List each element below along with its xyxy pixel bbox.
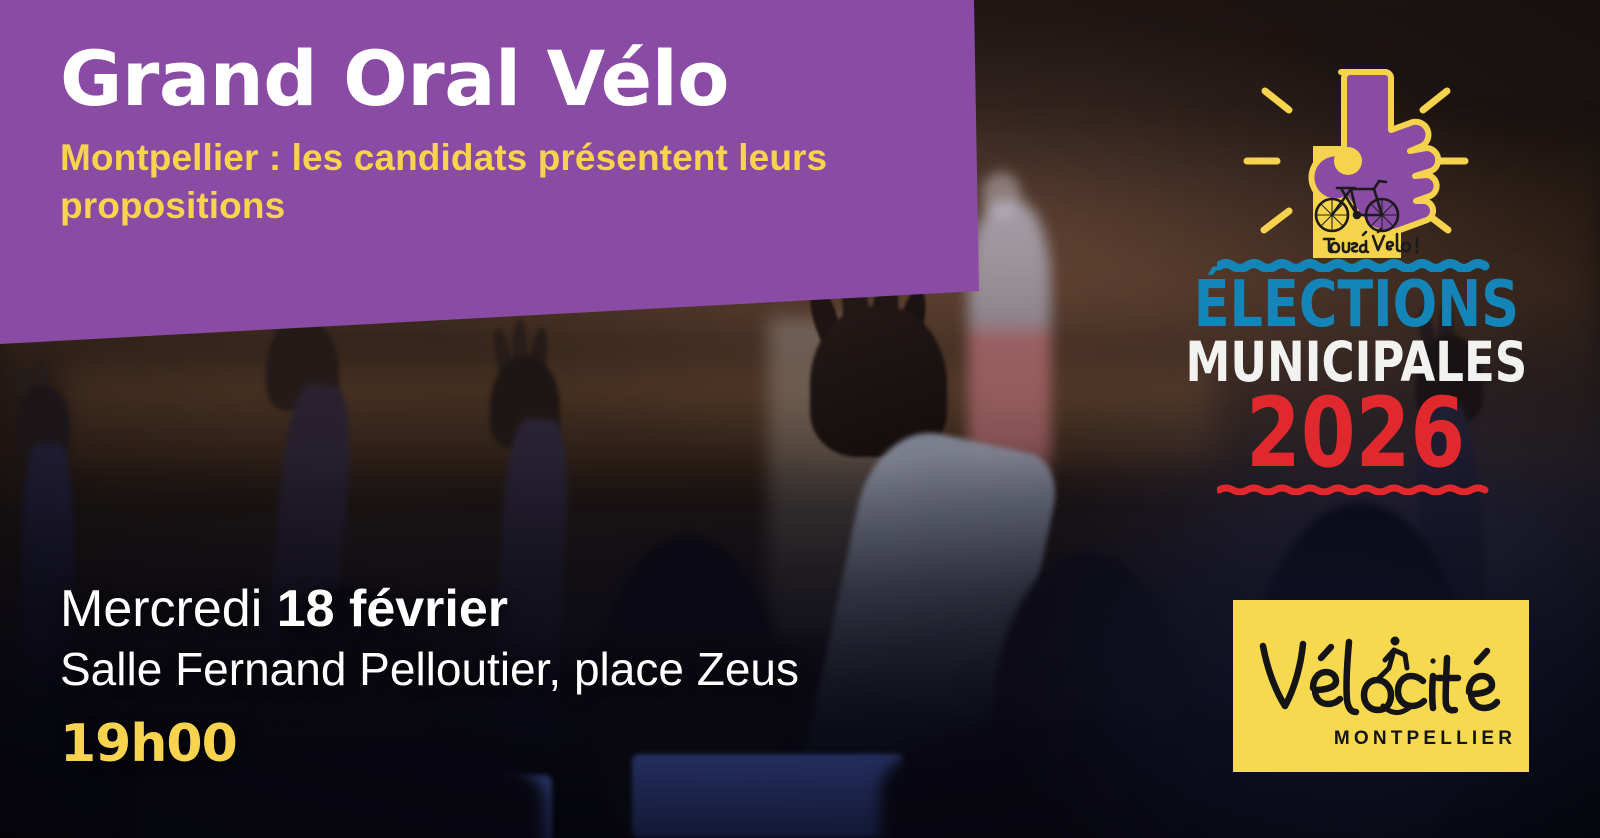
event-time: 19h00 (60, 718, 799, 770)
velocite-city-label: MONTPELLIER (1334, 728, 1516, 750)
event-venue: Salle Fernand Pelloutier, place Zeus (60, 644, 799, 696)
event-details: Mercredi 18 février Salle Fernand Pellou… (60, 580, 799, 770)
page-title: Grand Oral Vélo (60, 40, 960, 118)
elections-municipales-logo: ÉLECTIONS MUNICIPALES 2026 (1208, 58, 1504, 495)
event-date-strong: 18 février (277, 580, 508, 638)
cyclist-icon (1379, 637, 1407, 679)
event-date-prefix: Mercredi (60, 580, 277, 638)
velocite-montpellier-logo: MONTPELLIER (1233, 600, 1529, 772)
velocite-wordmark (1255, 628, 1507, 724)
event-poster: Grand Oral Vélo Montpellier : les candid… (0, 0, 1600, 838)
event-date: Mercredi 18 février (60, 580, 799, 638)
ballot-hand-artwork (1231, 58, 1481, 263)
elections-line-1: ÉLECTIONS (1193, 276, 1518, 335)
page-subtitle: Montpellier : les candidats présentent l… (60, 134, 890, 232)
purple-header-panel: Grand Oral Vélo Montpellier : les candid… (0, 0, 985, 350)
elections-line-3: 2026 (1246, 389, 1465, 477)
title-block: Grand Oral Vélo Montpellier : les candid… (60, 40, 960, 231)
